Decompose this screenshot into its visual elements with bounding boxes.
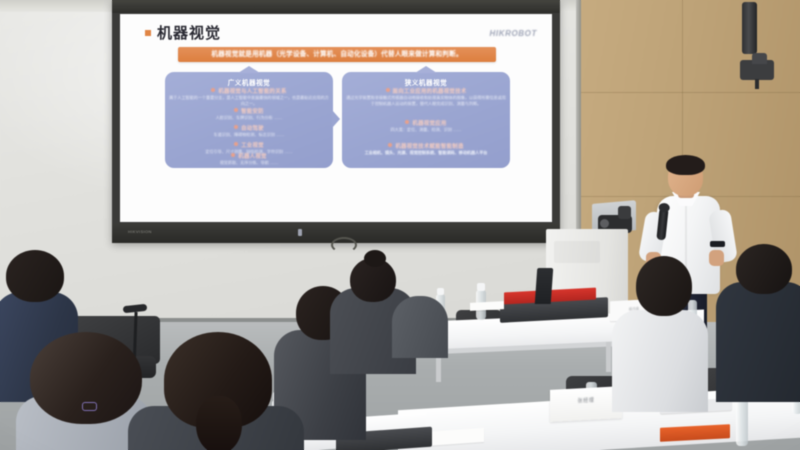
section-body: 人脸识别、车牌识别、行为分析 …… xyxy=(165,115,333,121)
box-notch-icon xyxy=(415,66,437,73)
display-top-bezel xyxy=(112,0,560,13)
section-heading: 自动驾驶 xyxy=(165,124,333,132)
laptop xyxy=(535,268,554,304)
page-title: 机器视觉 xyxy=(157,22,221,43)
display-bottom-bezel: HIKVISION xyxy=(112,223,560,243)
speaker-icon xyxy=(742,2,757,54)
screenshot-root: 机器视觉 HIKROBOT 机器视觉就是用机器（光学设备、计算机、自动化设备）代… xyxy=(0,0,800,450)
section-heading: 机器视觉应用 xyxy=(342,119,510,127)
section-body: 四大类：定位、测量、检测、识别 …… xyxy=(342,127,510,133)
bottle-cap xyxy=(477,283,485,291)
section-heading: 机器视觉技术赋能智能制造 xyxy=(342,142,510,150)
section-body: 车道识别、障碍物检测、标志识别 …… xyxy=(165,132,333,138)
display-knob-icon[interactable] xyxy=(331,237,357,253)
presenter-hair xyxy=(666,155,705,175)
attendee-ponytail xyxy=(196,396,242,450)
bullet-square-icon xyxy=(145,30,151,36)
slide-banner: 机器视觉就是用机器（光学设备、计算机、自动化设备）代替人眼来做计算和判断。 xyxy=(178,47,496,62)
eyeglasses-icon xyxy=(82,402,97,411)
projection-display[interactable]: 机器视觉 HIKROBOT 机器视觉就是用机器（光学设备、计算机、自动化设备）代… xyxy=(112,0,560,243)
diamond-bullet-icon xyxy=(231,153,235,157)
wood-seam xyxy=(580,92,800,93)
section-heading: 工业视觉 xyxy=(165,141,333,149)
section-body: 视觉抓取、无序分拣、导航 …… xyxy=(165,160,333,166)
section-heading: 机器视觉与人工智能的关系 xyxy=(165,87,333,95)
water-bottle xyxy=(736,400,748,446)
diamond-bullet-icon xyxy=(234,108,238,112)
box-header: 狭义机器视觉 xyxy=(342,77,510,87)
section-body: 工业相机、镜头、光源、视觉控制系统、智能读码、移动机器人平台 xyxy=(342,150,510,156)
diamond-bullet-icon xyxy=(234,125,238,129)
diamond-bullet-icon xyxy=(211,88,215,92)
ir-sensor-icon xyxy=(298,229,302,236)
slide-section: 自动驾驶 车道识别、障碍物检测、标志识别 …… xyxy=(165,124,333,138)
slide-section: 机器人视觉 视觉抓取、无序分拣、导航 …… xyxy=(165,152,333,166)
wristwatch-icon xyxy=(710,241,725,247)
attendee-body xyxy=(392,296,448,358)
section-body: 属于人工智能的一个重要分支，是人工智能中发展最快的领域之一，也是最贴近应用的方向… xyxy=(165,95,333,108)
box-header: 广义机器视觉 xyxy=(165,77,333,87)
slide-section: 机器视觉与人工智能的关系 属于人工智能的一个重要分支，是人工智能中发展最快的领域… xyxy=(165,87,333,108)
diamond-bullet-icon xyxy=(405,120,409,124)
diamond-bullet-icon xyxy=(388,143,392,147)
diamond-bullet-icon xyxy=(386,88,390,92)
slide-box-broad-vision: 广义机器视觉 机器视觉与人工智能的关系 属于人工智能的一个重要分支，是人工智能中… xyxy=(165,72,333,168)
attendee-head xyxy=(6,250,64,302)
slide-box-narrow-vision: 狭义机器视觉 面向工业应用的机器视觉技术 通过光学装置和非接触式传感器自动地接收… xyxy=(342,72,510,168)
bottle-cap xyxy=(437,288,444,295)
brand-logo: HIKROBOT xyxy=(490,29,537,38)
section-heading: 面向工业应用的机器视觉技术 xyxy=(342,87,510,95)
slide-section: 面向工业应用的机器视觉技术 通过光学装置和非接触式传感器自动地接收和处理真实物体… xyxy=(342,87,510,108)
section-body: 通过光学装置和非接触式传感器自动地接收和处理真实物体的图像，以获得所需信息或用于… xyxy=(342,95,510,108)
slide-banner-text: 机器视觉就是用机器（光学设备、计算机、自动化设备）代替人眼来做计算和判断。 xyxy=(178,47,496,62)
attendee-body xyxy=(612,310,708,412)
slide-section: 机器视觉技术赋能智能制造 工业相机、镜头、光源、视觉控制系统、智能读码、移动机器… xyxy=(342,142,510,156)
slide-section: 机器视觉应用 四大类：定位、测量、检测、识别 …… xyxy=(342,119,510,133)
slide-title-row: 机器视觉 HIKROBOT xyxy=(120,22,552,44)
box-tab-icon xyxy=(332,110,340,128)
display-brand-logo: HIKVISION xyxy=(128,229,152,234)
attendee-head xyxy=(736,244,792,294)
box-notch-icon xyxy=(238,66,260,73)
camera-icon xyxy=(740,60,774,80)
section-heading: 智能安防 xyxy=(165,107,333,115)
diamond-bullet-icon xyxy=(234,142,238,146)
attendee-head xyxy=(636,256,692,316)
lectern-panel xyxy=(554,241,600,263)
slide-canvas: 机器视觉 HIKROBOT 机器视觉就是用机器（光学设备、计算机、自动化设备）代… xyxy=(120,14,552,222)
presenter-right-hand xyxy=(709,250,724,266)
table-leg xyxy=(606,342,611,372)
attendee-body xyxy=(716,282,800,402)
section-heading: 机器人视觉 xyxy=(165,152,333,160)
slide-section: 智能安防 人脸识别、车牌识别、行为分析 …… xyxy=(165,107,333,121)
attendee-hair-bun xyxy=(364,250,386,267)
